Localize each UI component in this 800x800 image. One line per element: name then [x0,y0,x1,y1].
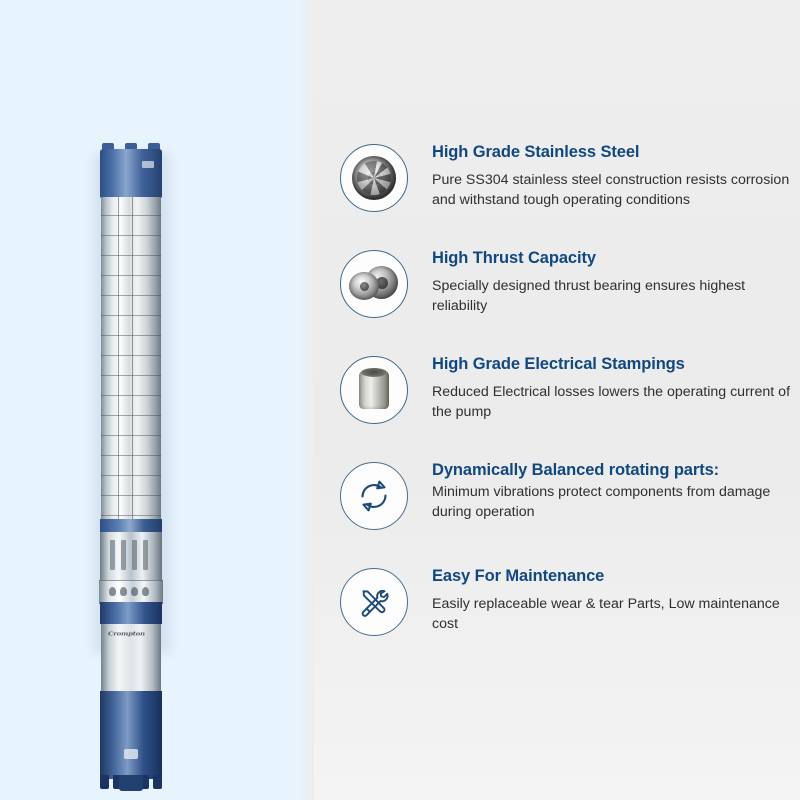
pump-chrome-ring [99,580,163,604]
pump-motor-steel-band: Crompton [101,624,161,691]
feature-item-electrical-stampings: High Grade Electrical Stampings Reduced … [340,352,792,436]
rotation-arrows-icon [340,462,408,530]
product-feature-infographic: Crompton High Grade Stai [0,0,800,800]
wrench-screwdriver-icon [340,568,408,636]
pump-intake-section [100,532,162,582]
feature-description: Reduced Electrical losses lowers the ope… [432,382,792,422]
feature-description: Pure SS304 stainless steel construction … [432,170,792,210]
feature-description: Minimum vibrations protect components fr… [432,482,792,522]
feature-item-easy-maintenance: Easy For Maintenance Easily replaceable … [340,564,792,648]
feature-title: High Grade Stainless Steel [432,142,792,163]
pump-delivery-head [100,149,162,199]
feature-item-stainless-steel: High Grade Stainless Steel Pure SS304 st… [340,140,792,224]
feature-text-block: High Grade Electrical Stampings Reduced … [408,352,792,422]
submersible-pump-image: Crompton [88,143,174,655]
feature-item-dynamically-balanced: Dynamically Balanced rotating parts: Min… [340,458,792,542]
feature-text-block: Dynamically Balanced rotating parts: Min… [408,458,792,522]
thrust-bearing-photo-icon [340,250,408,318]
stamping-graphic [359,371,389,409]
pump-base-foot [100,775,162,789]
feature-title: Easy For Maintenance [432,566,792,587]
feature-text-block: High Thrust Capacity Specially designed … [408,246,792,316]
feature-list: High Grade Stainless Steel Pure SS304 st… [340,140,792,670]
panel-divider-gradient [300,0,314,800]
product-image-panel: Crompton [0,0,300,800]
feature-description: Specially designed thrust bearing ensure… [432,276,792,316]
feature-title: High Grade Electrical Stampings [432,354,792,375]
electrical-stamping-photo-icon [340,356,408,424]
feature-text-block: Easy For Maintenance Easily replaceable … [408,564,792,634]
pump-blue-band [100,519,162,532]
thrust-bearing-graphic [349,264,399,304]
feature-title: High Thrust Capacity [432,248,792,269]
pump-head-highlight [142,161,154,168]
impeller-photo-icon [340,144,408,212]
feature-list-panel: High Grade Stainless Steel Pure SS304 st… [300,0,800,800]
pump-motor-collar [100,602,162,624]
impeller-graphic [352,156,396,200]
feature-text-block: High Grade Stainless Steel Pure SS304 st… [408,140,792,210]
motor-rating-badge [124,749,138,759]
feature-title: Dynamically Balanced rotating parts: [432,460,792,481]
feature-description: Easily replaceable wear & tear Parts, Lo… [432,594,792,634]
pump-motor-body [100,691,162,779]
feature-item-thrust-capacity: High Thrust Capacity Specially designed … [340,246,792,330]
brand-label: Crompton [108,630,145,638]
pump-stage-stack [101,197,161,521]
